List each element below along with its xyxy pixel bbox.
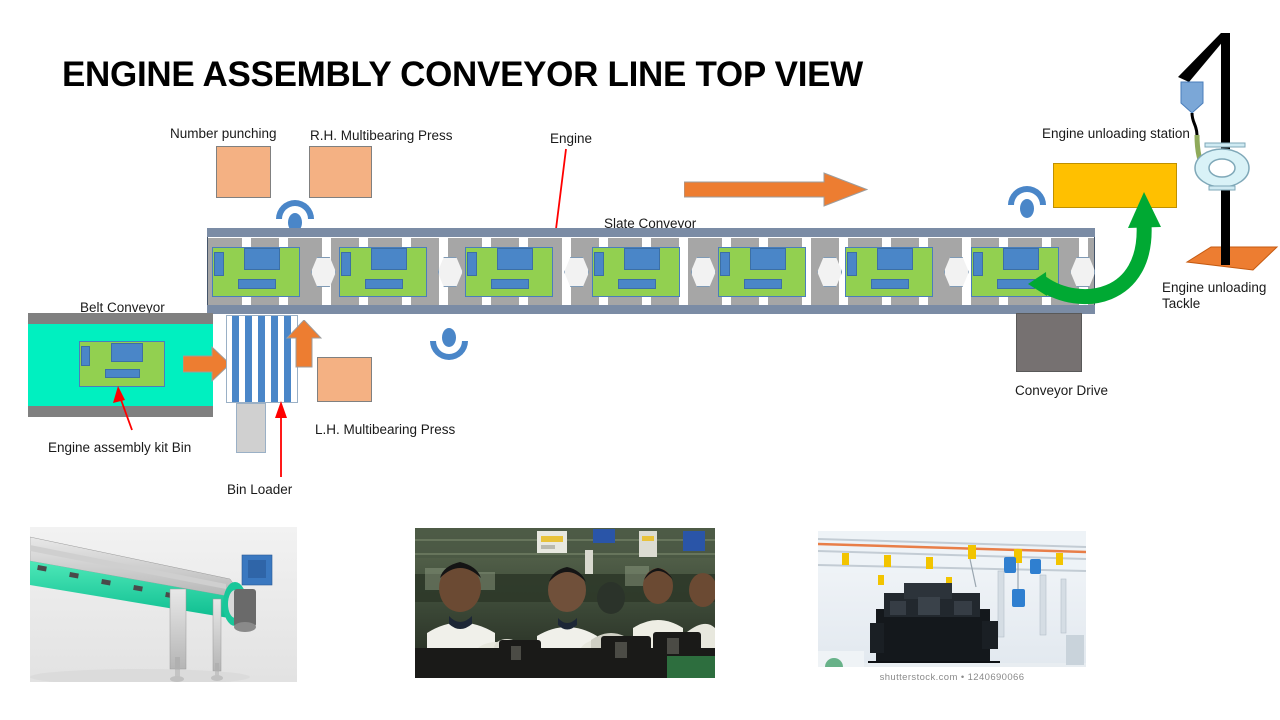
engine-unit — [845, 247, 933, 297]
engine-part-bottom — [618, 279, 656, 289]
conveyor-rail-top — [207, 228, 1095, 237]
engine-part-left — [341, 252, 351, 276]
engine-unit — [339, 247, 427, 297]
engine-part-bottom — [238, 279, 276, 289]
engine-part-bottom — [871, 279, 909, 289]
engine-assembly-kit-bin — [79, 341, 165, 387]
label-engine-unloading-tackle-line2: Tackle — [1162, 296, 1200, 313]
engine-part-left — [720, 252, 730, 276]
conveyor-rail-bottom — [207, 305, 1095, 314]
label-bin-loader: Bin Loader — [227, 482, 292, 499]
belt-rail-top — [28, 313, 213, 324]
kit-bin-part-top — [111, 343, 143, 362]
flow-direction-arrow — [684, 172, 868, 208]
engine-part-left — [594, 252, 604, 276]
conveyor-drive — [1016, 313, 1082, 372]
photo-modern-engine-line: shutterstock.com • 1240690066 — [818, 531, 1086, 689]
unload-transfer-arrow — [1020, 180, 1180, 305]
machine-lh-multibearing-press[interactable] — [317, 357, 372, 402]
engine-part-top — [497, 248, 533, 270]
engine-part-left — [973, 252, 983, 276]
engine-part-bottom — [365, 279, 403, 289]
kit-bin-part-left — [81, 346, 90, 366]
engine-part-bottom — [744, 279, 782, 289]
label-engine-assembly-kit-bin: Engine assembly kit Bin — [48, 440, 191, 457]
engine-part-top — [371, 248, 407, 270]
page-title: ENGINE ASSEMBLY CONVEYOR LINE TOP VIEW — [62, 55, 962, 95]
bin-loader-stripe — [258, 316, 265, 402]
engine-unloading-tackle — [1175, 25, 1280, 275]
bin-loader-stripe — [232, 316, 239, 402]
label-number-punching: Number punching — [170, 126, 277, 143]
engine-part-left — [214, 252, 224, 276]
slate-conveyor — [207, 228, 1095, 314]
label-lh-multibearing-press: L.H. Multibearing Press — [315, 422, 455, 439]
photo-watermark: shutterstock.com • 1240690066 — [818, 667, 1086, 689]
engine-part-top — [750, 248, 786, 270]
operator-icon-station-2 — [430, 328, 468, 360]
engine-part-top — [877, 248, 913, 270]
label-conveyor-drive: Conveyor Drive — [1015, 383, 1108, 400]
bin-loader-stripe — [271, 316, 278, 402]
label-engine-unloading-station: Engine unloading station — [1042, 126, 1190, 143]
engine-part-bottom — [491, 279, 529, 289]
kit-bin-part-bottom — [105, 369, 140, 378]
engine-unit — [465, 247, 553, 297]
machine-rh-multibearing-press[interactable] — [309, 146, 372, 198]
bin-loader-stripe — [245, 316, 252, 402]
pointer-bin-loader — [270, 400, 292, 478]
label-rh-multibearing-press: R.H. Multibearing Press — [310, 128, 453, 145]
engine-part-top — [624, 248, 660, 270]
machine-number-punching[interactable] — [216, 146, 271, 198]
label-engine-unloading-tackle-line1: Engine unloading — [1162, 280, 1266, 297]
engine-part-top — [244, 248, 280, 270]
diagram-canvas: ENGINE ASSEMBLY CONVEYOR LINE TOP VIEW N… — [0, 0, 1280, 720]
engine-part-left — [467, 252, 477, 276]
belt-transfer-arrow — [183, 345, 231, 383]
pointer-kit-bin — [92, 385, 142, 433]
engine-unit — [592, 247, 680, 297]
bin-loader-column — [236, 403, 266, 453]
engine-unit — [718, 247, 806, 297]
engine-part-left — [847, 252, 857, 276]
photo-engine-assembly-workers — [415, 528, 715, 678]
operator-arc-icon — [430, 341, 468, 360]
photo-belt-conveyor-render — [30, 527, 297, 682]
engine-unit — [212, 247, 300, 297]
